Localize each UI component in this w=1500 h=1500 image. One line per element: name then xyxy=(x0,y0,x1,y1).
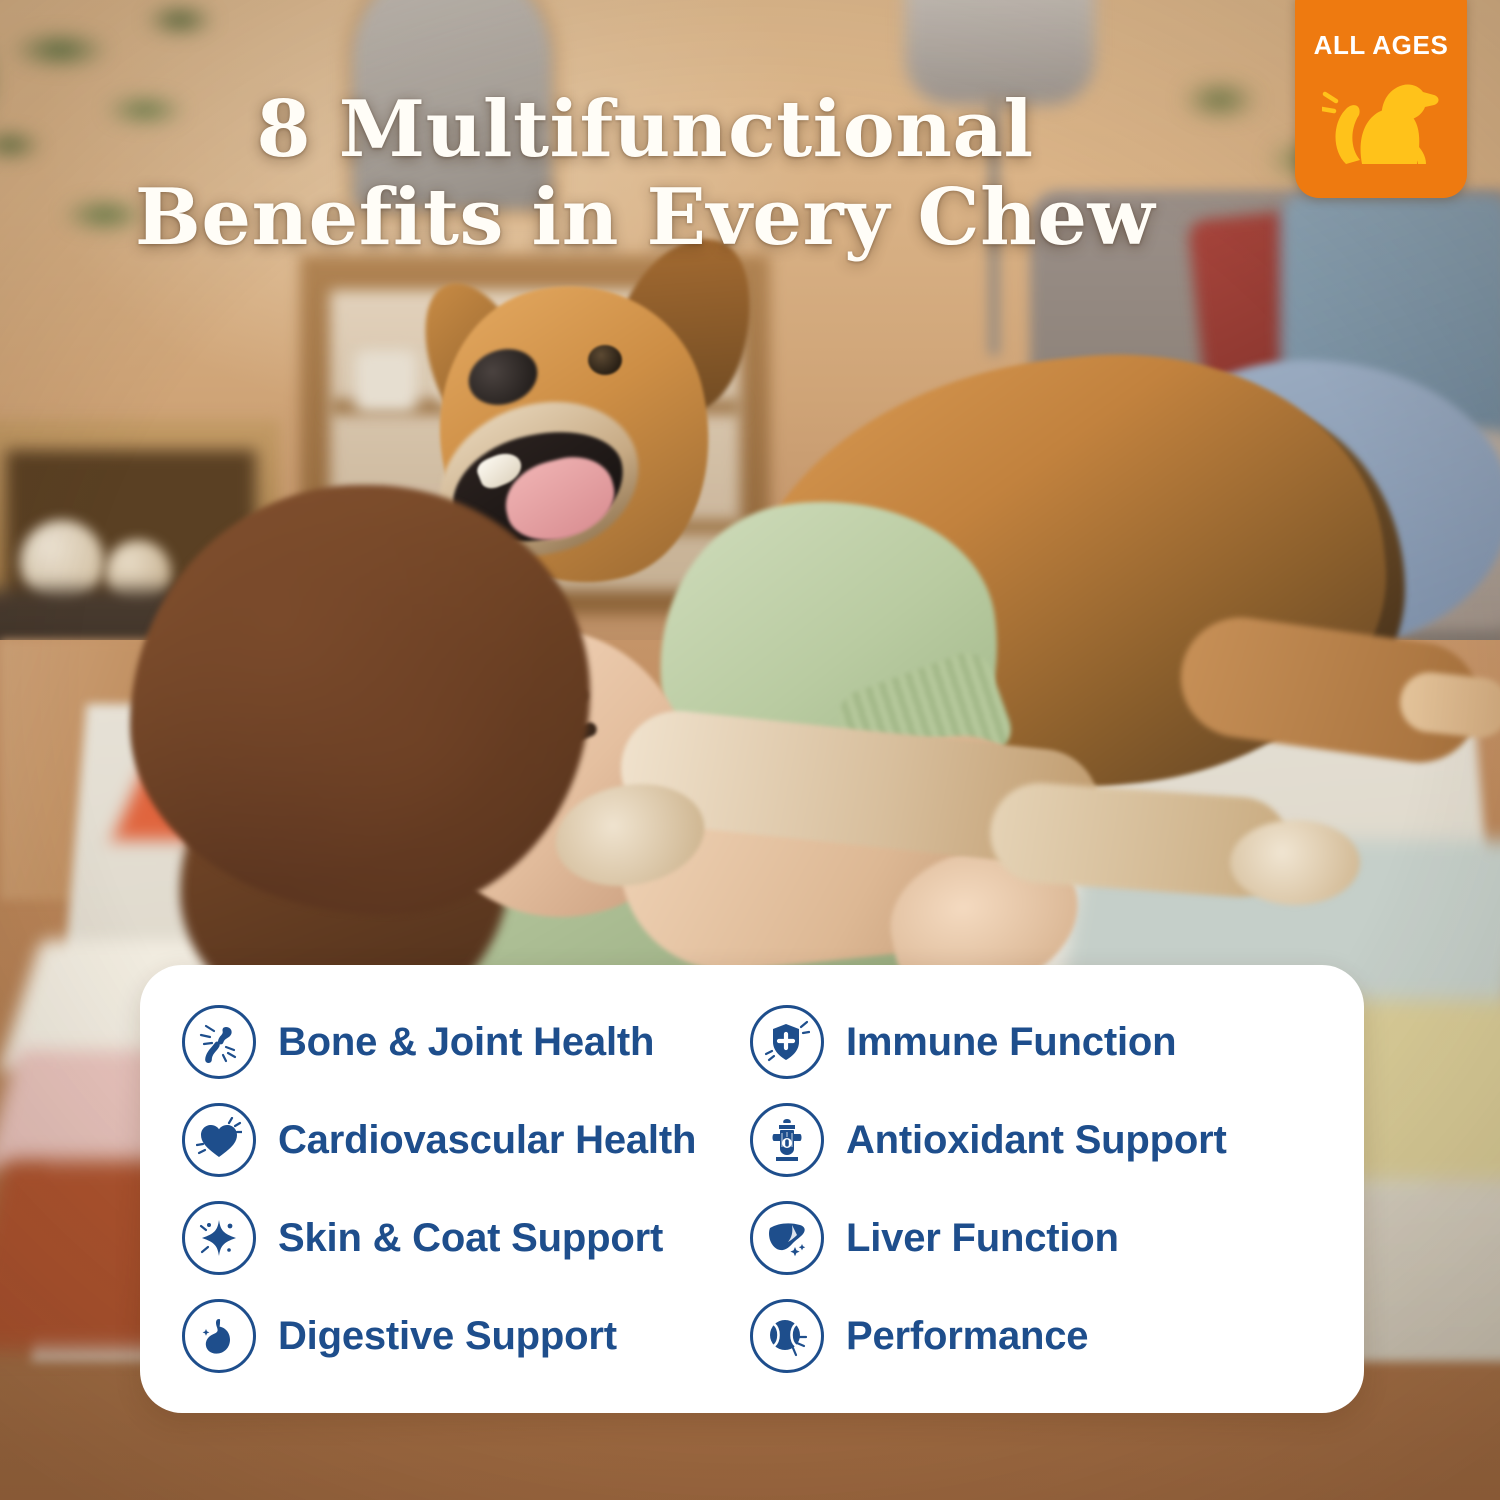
benefit-label: Antioxidant Support xyxy=(846,1118,1227,1163)
stomach-icon xyxy=(182,1299,256,1373)
benefit-item-digestive-support[interactable]: Digestive Support xyxy=(182,1287,750,1385)
benefit-label: Cardiovascular Health xyxy=(278,1118,696,1163)
bone-joint-icon xyxy=(182,1005,256,1079)
page-title: 8 Multifunctional Benefits in Every Chew xyxy=(0,86,1290,262)
benefit-item-immune-function[interactable]: Immune Function xyxy=(750,993,1318,1091)
benefit-label: Skin & Coat Support xyxy=(278,1216,663,1261)
product-benefits-poster: 8 Multifunctional Benefits in Every Chew… xyxy=(0,0,1500,1500)
woman-and-dog-subject xyxy=(0,230,1500,1010)
benefit-item-cardiovascular-health[interactable]: Cardiovascular Health xyxy=(182,1091,750,1189)
benefit-item-performance[interactable]: Performance xyxy=(750,1287,1318,1385)
dog-eye xyxy=(588,345,622,375)
benefit-item-bone-joint-health[interactable]: Bone & Joint Health xyxy=(182,993,750,1091)
benefit-item-liver-function[interactable]: Liver Function xyxy=(750,1189,1318,1287)
benefit-label: Liver Function xyxy=(846,1216,1119,1261)
heart-icon xyxy=(182,1103,256,1177)
all-ages-badge: ALL AGES xyxy=(1295,0,1467,198)
benefit-label: Performance xyxy=(846,1314,1088,1359)
benefits-card: Bone & Joint Health xyxy=(140,965,1364,1413)
benefits-grid: Bone & Joint Health xyxy=(140,965,1364,1413)
dog-front-paw-right xyxy=(1230,820,1360,905)
sparkle-star-icon xyxy=(182,1201,256,1275)
benefit-label: Digestive Support xyxy=(278,1314,617,1359)
benefit-label: Immune Function xyxy=(846,1020,1176,1065)
tennis-ball-icon xyxy=(750,1299,824,1373)
sitting-dog-icon xyxy=(1322,65,1440,178)
womans-curly-hair xyxy=(130,485,590,915)
badge-label: ALL AGES xyxy=(1314,30,1449,61)
benefit-item-antioxidant-support[interactable]: Antioxidant Support xyxy=(750,1091,1318,1189)
benefit-item-skin-coat-support[interactable]: Skin & Coat Support xyxy=(182,1189,750,1287)
liver-icon xyxy=(750,1201,824,1275)
fire-hydrant-icon xyxy=(750,1103,824,1177)
benefit-label: Bone & Joint Health xyxy=(278,1020,654,1065)
shield-plus-icon xyxy=(750,1005,824,1079)
